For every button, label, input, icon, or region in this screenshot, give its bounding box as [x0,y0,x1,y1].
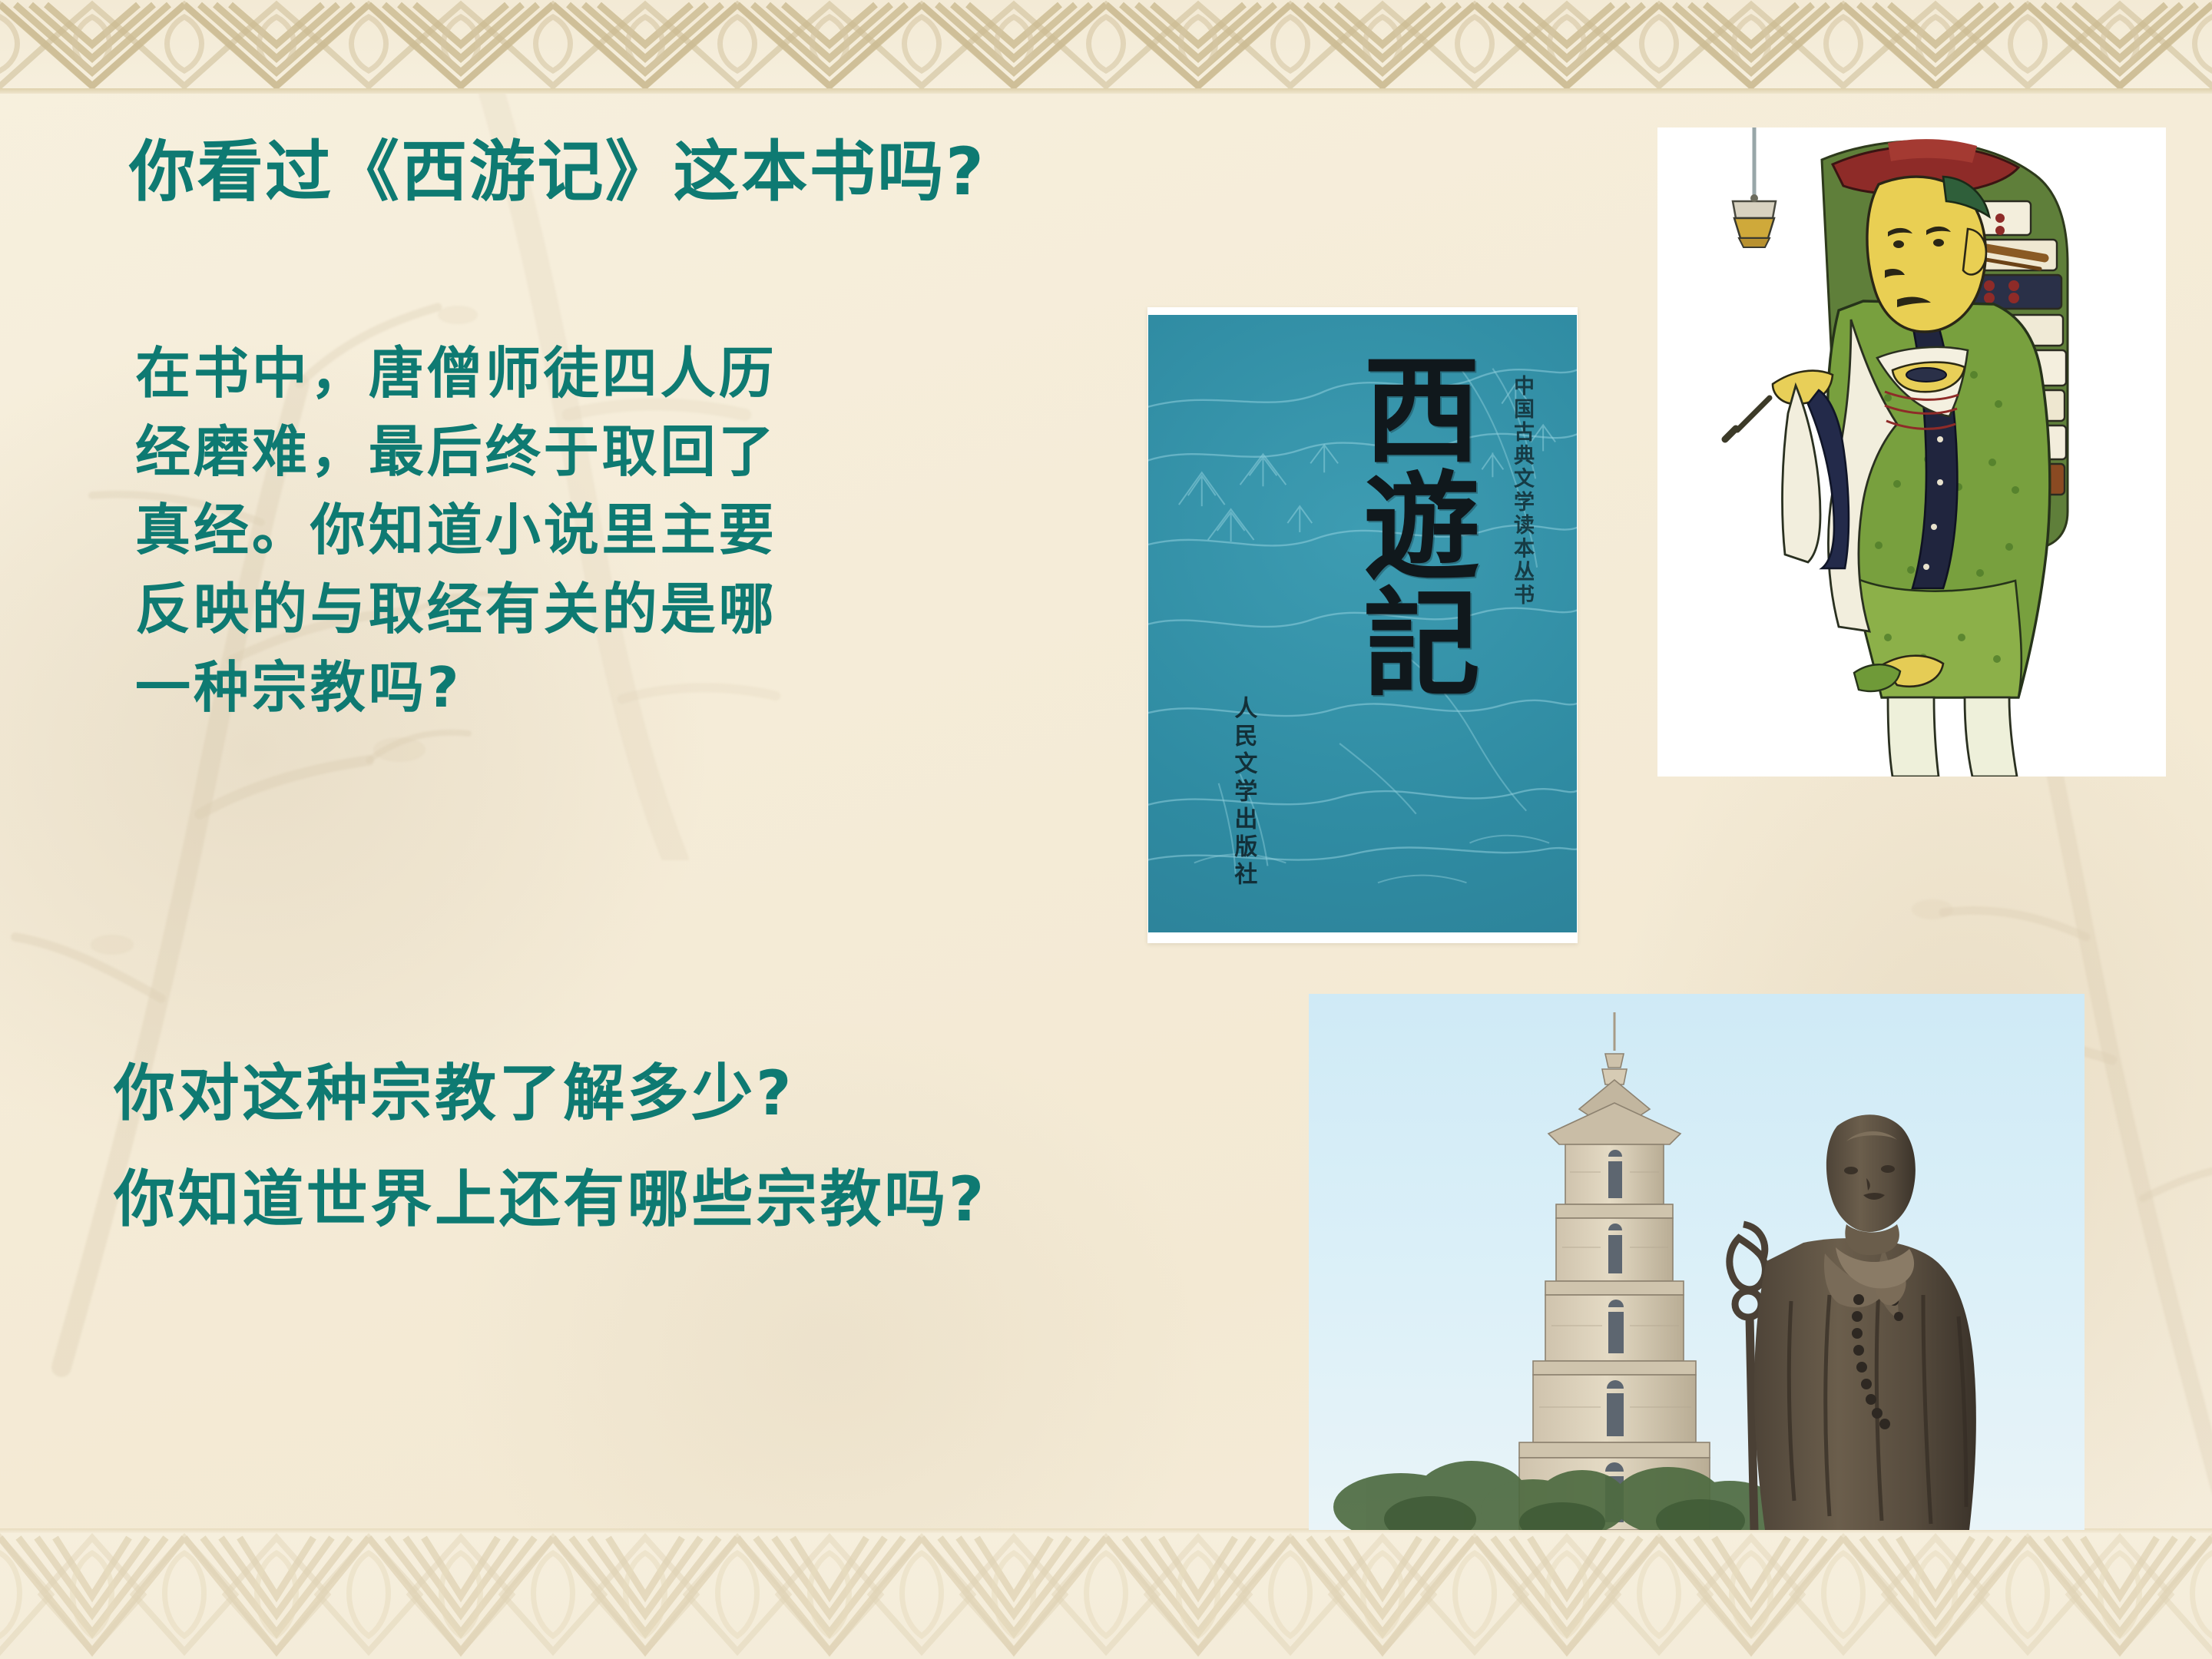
monk-painting-image [1657,127,2166,777]
book-cover-image: 西遊記 中国古典文学读本丛书 人民文学出版社 [1147,307,1578,943]
book-series-text: 中国古典文学读本丛书 [1508,375,1534,607]
body-paragraph: 在书中，唐僧师徒四人历经磨难，最后终于取回了真经。你知道小说里主要反映的与取经有… [135,334,826,727]
monk-painting-illustration [1657,127,2166,777]
bottom-decorative-border [0,1528,2212,1659]
book-publisher-text: 人民文学出版社 [1228,696,1257,889]
pagoda-statue-photo [1309,994,2085,1530]
slide-title: 你看过《西游记》这本书吗? [129,137,985,208]
book-cover-face: 西遊記 中国古典文学读本丛书 人民文学出版社 [1148,315,1577,932]
pagoda-statue-illustration [1309,994,2085,1530]
book-title-text: 西遊記 [1330,349,1476,699]
top-decorative-border [0,0,2212,94]
question-line-1: 你对这种宗教了解多少? [114,1060,794,1128]
question-line-2: 你知道世界上还有哪些宗教吗? [114,1166,987,1233]
presentation-slide: 你看过《西游记》这本书吗? 在书中，唐僧师徒四人历经磨难，最后终于取回了真经。你… [0,0,2212,1659]
